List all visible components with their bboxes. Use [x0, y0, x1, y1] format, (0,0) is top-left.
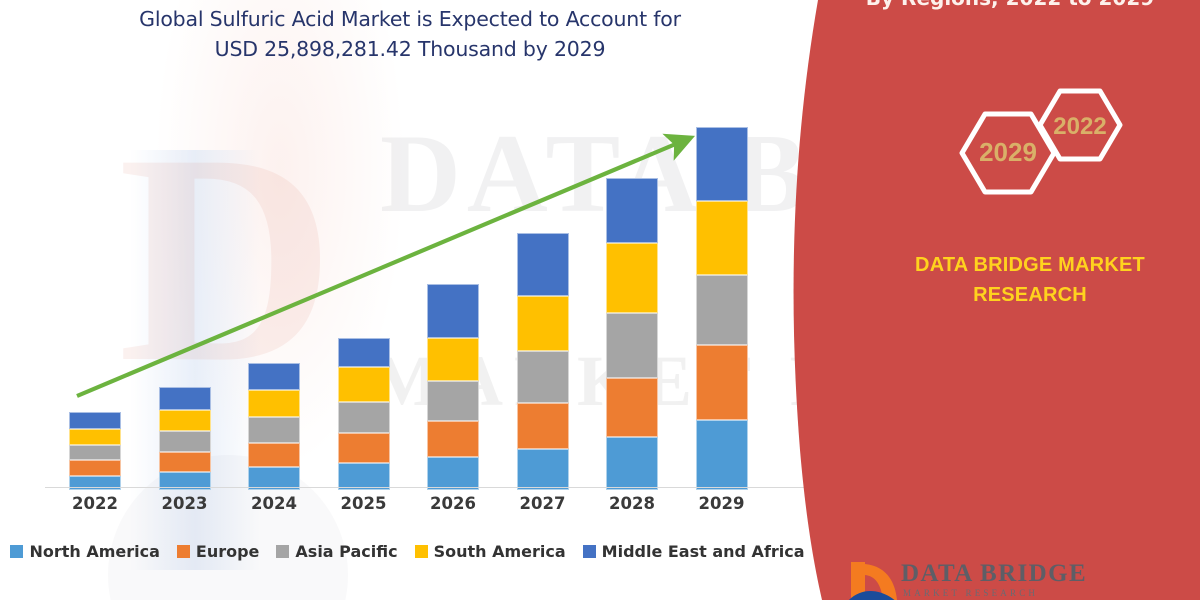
panel-brand-line-2: RESEARCH	[865, 280, 1195, 310]
bar-segment-south-america	[696, 201, 748, 275]
bar-segment-asia-pacific	[338, 402, 390, 434]
bar-segment-south-america	[606, 243, 658, 313]
x-axis-label-2027: 2027	[503, 494, 583, 513]
x-axis-label-2024: 2024	[234, 494, 314, 513]
x-axis-label-2029: 2029	[682, 494, 762, 513]
panel-brand-name: DATA BRIDGE MARKET RESEARCH	[865, 250, 1195, 310]
bar-segment-middle-east-and-africa	[159, 387, 211, 410]
legend-label: Europe	[196, 542, 260, 561]
bar-segment-middle-east-and-africa	[338, 338, 390, 367]
chart-title-line-2: USD 25,898,281.42 Thousand by 2029	[60, 34, 760, 64]
right-panel-content: By Regions, 2022 to 2029 2029 2022 DATA …	[770, 0, 1200, 600]
bar-segment-north-america	[606, 437, 658, 490]
bar-segment-south-america	[69, 429, 121, 444]
bar-segment-europe	[606, 378, 658, 437]
x-axis-label-2022: 2022	[55, 494, 135, 513]
bar-segment-north-america	[427, 457, 479, 490]
bar-segment-asia-pacific	[606, 313, 658, 378]
bar-segment-asia-pacific	[69, 445, 121, 460]
legend-label: North America	[29, 542, 159, 561]
chart-title-line-1: Global Sulfuric Acid Market is Expected …	[60, 4, 760, 34]
bar-segment-middle-east-and-africa	[69, 412, 121, 429]
bar-2025	[338, 338, 390, 490]
panel-brand-line-1: DATA BRIDGE MARKET	[865, 250, 1195, 280]
logo-title: DATA BRIDGE	[901, 560, 1087, 588]
bar-segment-asia-pacific	[696, 275, 748, 345]
bar-2026	[427, 284, 479, 490]
legend-swatch-icon	[276, 545, 289, 558]
bar-segment-south-america	[248, 390, 300, 417]
plot-bars	[0, 120, 820, 490]
x-axis-label-2026: 2026	[413, 494, 493, 513]
svg-text:2029: 2029	[979, 137, 1037, 167]
bar-2027	[517, 233, 569, 490]
legend-item-south-america[interactable]: South America	[415, 542, 566, 561]
bridge-logo-icon	[845, 556, 901, 600]
x-axis-label-2023: 2023	[145, 494, 225, 513]
bar-segment-europe	[338, 433, 390, 463]
logo-subtitle: MARKET RESEARCH	[903, 588, 1038, 598]
bar-segment-middle-east-and-africa	[696, 127, 748, 201]
bar-2024	[248, 363, 300, 490]
bar-segment-middle-east-and-africa	[517, 233, 569, 296]
svg-text:2022: 2022	[1053, 113, 1106, 140]
chart-infographic: D DATA BRIDGE MARKET RESEARCH Global Sul…	[0, 0, 1200, 600]
bar-2022	[69, 412, 121, 490]
panel-heading: By Regions, 2022 to 2029	[830, 0, 1190, 12]
databridge-logo: DATA BRIDGE MARKET RESEARCH	[845, 556, 1175, 600]
legend-item-north-america[interactable]: North America	[10, 542, 159, 561]
bar-segment-middle-east-and-africa	[248, 363, 300, 391]
bar-segment-north-america	[696, 420, 748, 490]
bar-segment-north-america	[338, 463, 390, 490]
chart-area: Global Sulfuric Acid Market is Expected …	[0, 0, 820, 600]
x-axis-line	[45, 487, 805, 488]
hexagon-badges: 2029 2022	[915, 78, 1145, 228]
bar-2029	[696, 127, 748, 490]
chart-title: Global Sulfuric Acid Market is Expected …	[60, 4, 760, 64]
bar-segment-south-america	[338, 367, 390, 402]
legend-swatch-icon	[10, 545, 23, 558]
bar-2028	[606, 178, 658, 490]
bar-segment-south-america	[517, 296, 569, 352]
legend-label: South America	[434, 542, 566, 561]
bar-segment-europe	[248, 443, 300, 468]
legend-swatch-icon	[415, 545, 428, 558]
x-axis-labels: 20222023202420252026202720282029	[0, 494, 820, 520]
bar-segment-europe	[517, 403, 569, 449]
bar-segment-asia-pacific	[427, 381, 479, 421]
legend-swatch-icon	[583, 545, 596, 558]
legend-label: Asia Pacific	[295, 542, 397, 561]
bar-segment-europe	[427, 421, 479, 457]
bar-segment-asia-pacific	[517, 351, 569, 402]
bar-segment-south-america	[427, 338, 479, 381]
bar-segment-middle-east-and-africa	[606, 178, 658, 244]
chart-legend: North AmericaEuropeAsia PacificSouth Ame…	[0, 538, 815, 564]
bar-segment-asia-pacific	[248, 417, 300, 443]
bar-segment-europe	[69, 460, 121, 475]
bar-segment-middle-east-and-africa	[427, 284, 479, 337]
right-brand-panel: By Regions, 2022 to 2029 2029 2022 DATA …	[770, 0, 1200, 600]
bar-segment-north-america	[517, 449, 569, 490]
bar-segment-asia-pacific	[159, 431, 211, 452]
bar-segment-south-america	[159, 410, 211, 432]
legend-item-asia-pacific[interactable]: Asia Pacific	[276, 542, 397, 561]
bar-segment-europe	[696, 345, 748, 420]
legend-swatch-icon	[177, 545, 190, 558]
x-axis-label-2028: 2028	[592, 494, 672, 513]
legend-item-europe[interactable]: Europe	[177, 542, 260, 561]
bar-segment-europe	[159, 452, 211, 472]
x-axis-label-2025: 2025	[324, 494, 404, 513]
bar-2023	[159, 387, 211, 490]
